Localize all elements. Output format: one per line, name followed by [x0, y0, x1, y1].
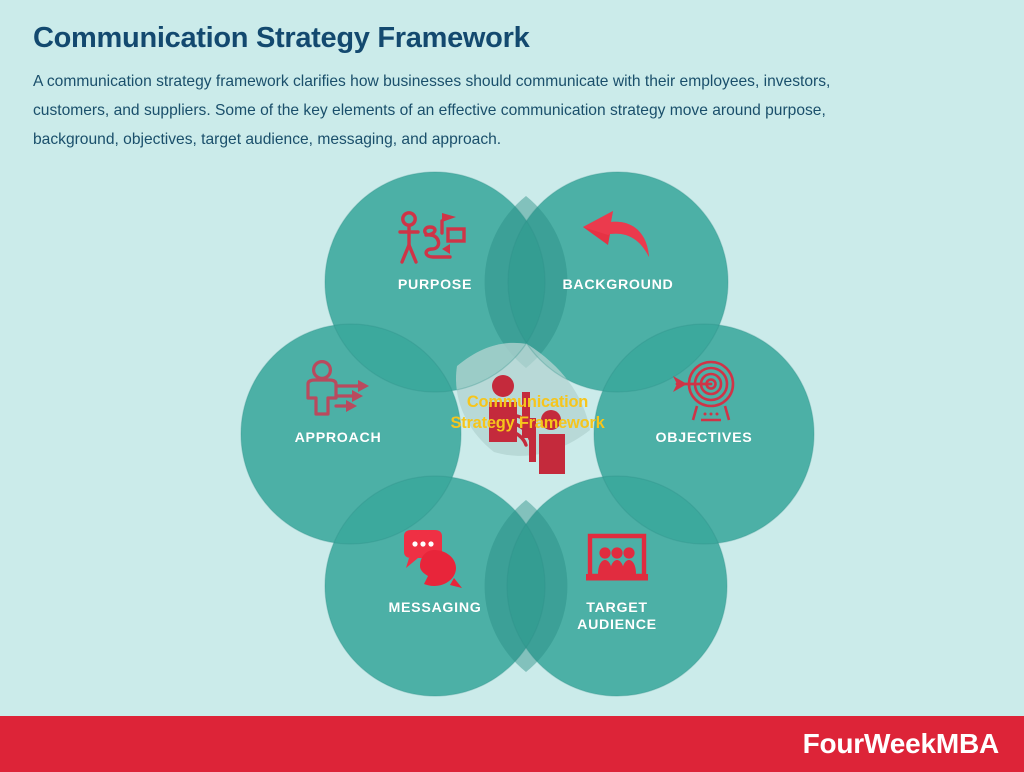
venn-diagram: PURPOSE BACKGROUND — [0, 0, 1024, 716]
brand-logo: FourWeekMBA — [803, 728, 999, 760]
venn-circle-group — [241, 172, 814, 696]
circle-approach — [241, 324, 461, 544]
footer-bar: FourWeekMBA — [0, 716, 1024, 772]
venn-circles — [0, 0, 1024, 716]
